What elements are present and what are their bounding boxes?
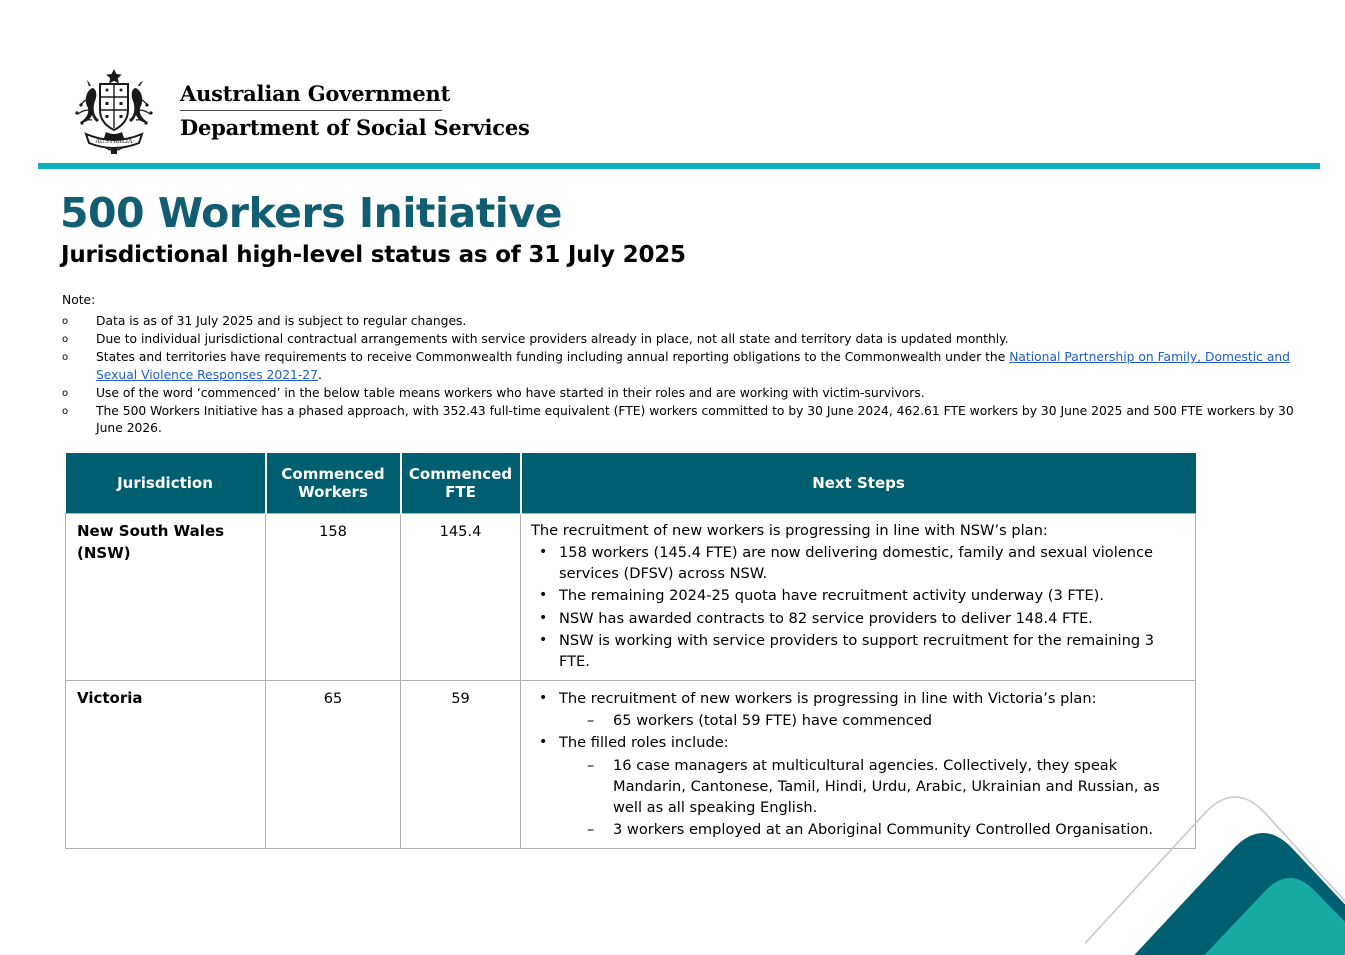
page-title: 500 Workers Initiative [60, 192, 562, 235]
australian-coat-of-arms-icon: AUSTRALIA [62, 66, 166, 158]
cell-next-steps: • The recruitment of new workers is prog… [521, 681, 1196, 849]
arch-dark-teal-shape [1125, 833, 1345, 955]
jurisdiction-status-table: Jurisdiction Commenced Workers Commenced… [65, 453, 1196, 849]
page-subtitle: Jurisdictional high-level status as of 3… [61, 243, 686, 268]
notes-label: Note: [62, 292, 1294, 309]
cell-commenced-fte: 145.4 [401, 514, 521, 681]
notes-section: Note: o Data is as of 31 July 2025 and i… [62, 292, 1294, 438]
note-text-after: . [318, 368, 322, 382]
note-text: States and territories have requirements… [96, 349, 1294, 384]
sub-bullet-text: 16 case managers at multicultural agenci… [613, 755, 1187, 818]
next-steps-lead: The recruitment of new workers is progre… [531, 520, 1187, 541]
note-item: o Use of the word ‘commenced’ in the bel… [62, 385, 1294, 402]
sub-bullet-text: 65 workers (total 59 FTE) have commenced [613, 710, 1187, 731]
bullet-item: • The remaining 2024-25 quota have recru… [531, 585, 1187, 606]
note-text: The 500 Workers Initiative has a phased … [96, 403, 1294, 438]
cell-jurisdiction: New South Wales (NSW) [66, 514, 266, 681]
bullet-text: The remaining 2024-25 quota have recruit… [559, 585, 1187, 606]
column-header-next-steps: Next Steps [521, 453, 1196, 514]
government-branding: AUSTRALIA Australian Government Departme… [62, 66, 530, 158]
wordmark-divider [180, 110, 442, 111]
table-header-row: Jurisdiction Commenced Workers Commenced… [66, 453, 1196, 514]
note-item: o Due to individual jurisdictional contr… [62, 331, 1294, 348]
bullet-item: • NSW is working with service providers … [531, 630, 1187, 672]
accent-divider-bar [38, 163, 1320, 169]
table-row: Victoria 65 59 • The recruitment of new … [66, 681, 1196, 849]
note-text-before: States and territories have requirements… [96, 350, 1009, 364]
svg-text:AUSTRALIA: AUSTRALIA [94, 138, 133, 145]
department-name-text: Department of Social Services [180, 116, 530, 140]
bullet-marker: • [531, 585, 559, 605]
cell-commenced-workers: 65 [266, 681, 401, 849]
note-item: o Data is as of 31 July 2025 and is subj… [62, 313, 1294, 330]
government-wordmark: Australian Government Department of Soci… [180, 66, 530, 140]
column-header-commenced-workers: Commenced Workers [266, 453, 401, 514]
sub-bullet-item: – 3 workers employed at an Aboriginal Co… [531, 819, 1187, 840]
table-row: New South Wales (NSW) 158 145.4 The recr… [66, 514, 1196, 681]
bullet-marker: • [531, 542, 559, 562]
bullet-item: • 158 workers (145.4 FTE) are now delive… [531, 542, 1187, 584]
arch-light-teal-shape [1195, 878, 1345, 955]
bullet-item: • NSW has awarded contracts to 82 servic… [531, 608, 1187, 629]
column-header-commenced-fte: Commenced FTE [401, 453, 521, 514]
sub-bullet-item: – 16 case managers at multicultural agen… [531, 755, 1187, 818]
note-bullet-marker: o [62, 331, 96, 348]
bullet-text: The recruitment of new workers is progre… [559, 688, 1187, 709]
note-item: o The 500 Workers Initiative has a phase… [62, 403, 1294, 438]
sub-bullet-marker: – [587, 710, 613, 731]
bullet-marker: • [531, 630, 559, 650]
note-bullet-marker: o [62, 313, 96, 330]
cell-jurisdiction: Victoria [66, 681, 266, 849]
bullet-text: The filled roles include: [559, 732, 1187, 753]
bullet-item: • The filled roles include: [531, 732, 1187, 753]
note-item: o States and territories have requiremen… [62, 349, 1294, 384]
sub-bullet-marker: – [587, 819, 613, 840]
column-header-jurisdiction: Jurisdiction [66, 453, 266, 514]
bullet-marker: • [531, 688, 559, 708]
cell-next-steps: The recruitment of new workers is progre… [521, 514, 1196, 681]
bullet-item: • The recruitment of new workers is prog… [531, 688, 1187, 709]
cell-commenced-fte: 59 [401, 681, 521, 849]
cell-commenced-workers: 158 [266, 514, 401, 681]
sub-bullet-item: – 65 workers (total 59 FTE) have commenc… [531, 710, 1187, 731]
bullet-text: NSW is working with service providers to… [559, 630, 1187, 672]
sub-bullet-text: 3 workers employed at an Aboriginal Comm… [613, 819, 1187, 840]
note-text: Use of the word ‘commenced’ in the below… [96, 385, 1294, 402]
note-text: Data is as of 31 July 2025 and is subjec… [96, 313, 1294, 330]
note-text: Due to individual jurisdictional contrac… [96, 331, 1294, 348]
note-bullet-marker: o [62, 403, 96, 420]
bullet-text: NSW has awarded contracts to 82 service … [559, 608, 1187, 629]
note-bullet-marker: o [62, 385, 96, 402]
bullet-marker: • [531, 732, 559, 752]
sub-bullet-marker: – [587, 755, 613, 776]
australian-government-text: Australian Government [180, 82, 530, 106]
bullet-text: 158 workers (145.4 FTE) are now deliveri… [559, 542, 1187, 584]
bullet-marker: • [531, 608, 559, 628]
note-bullet-marker: o [62, 349, 96, 366]
